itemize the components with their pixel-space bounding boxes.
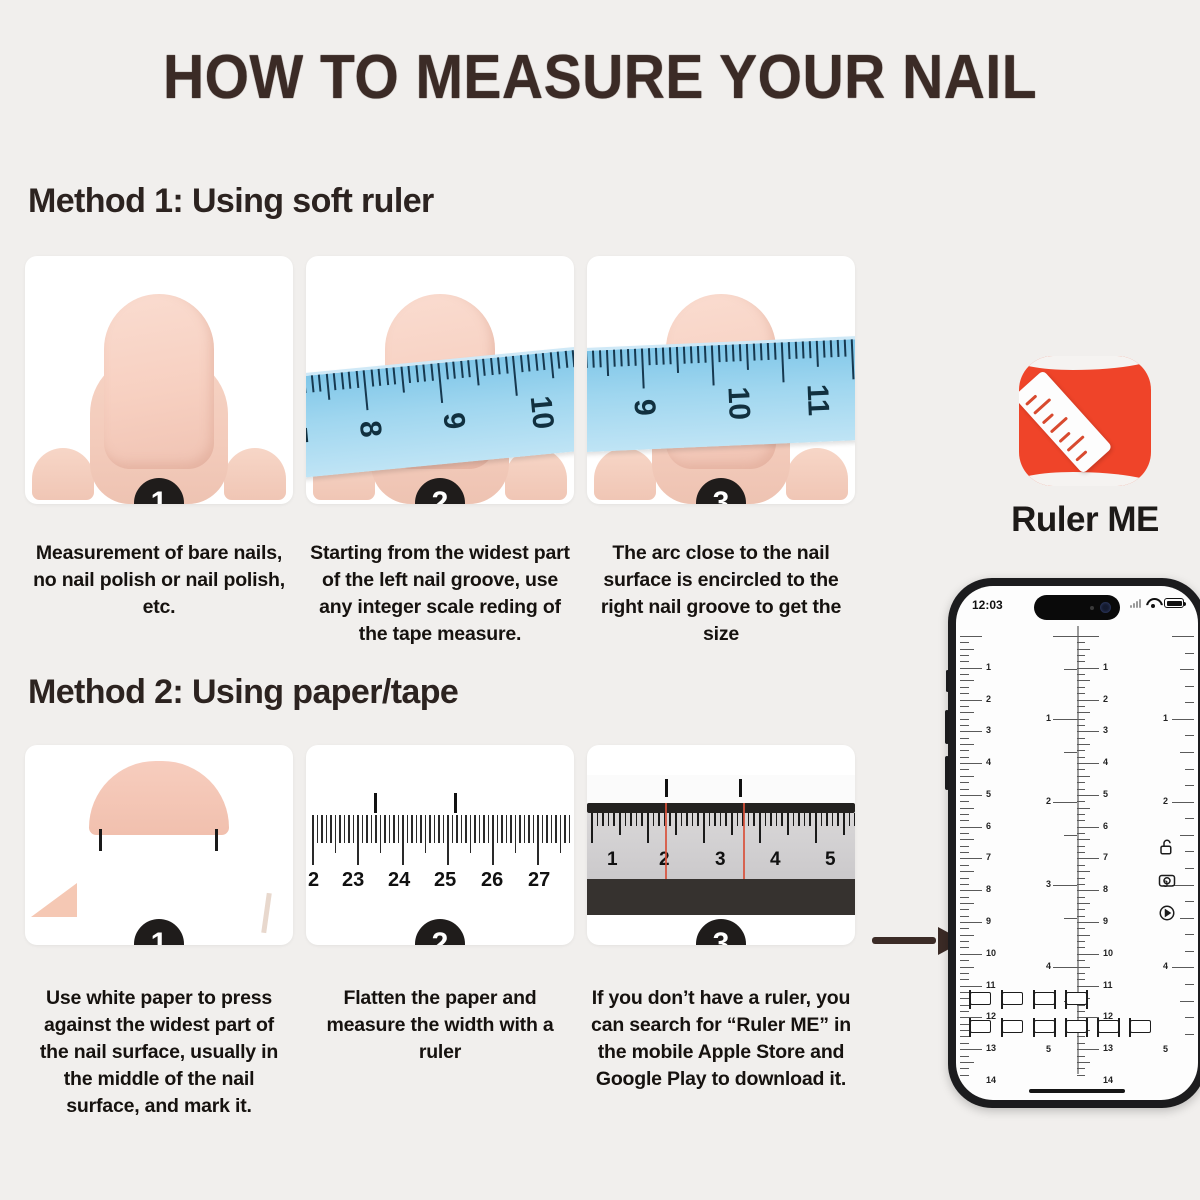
measurement-chip[interactable] (1130, 1020, 1151, 1033)
measurement-chip[interactable] (970, 1020, 991, 1033)
ruler-tick-label: 1 (1163, 713, 1168, 723)
ruler-number: 24 (388, 869, 410, 892)
ruler-number: 25 (434, 869, 456, 892)
arrow-shaft (872, 937, 936, 944)
ruler-tick-label: 13 (986, 1043, 996, 1053)
unlock-icon[interactable] (1158, 838, 1176, 856)
play-icon[interactable] (1158, 904, 1176, 922)
finger-corner (31, 883, 77, 917)
tape-number: 7 (306, 426, 314, 446)
method-2-step-1: 1 Use white paper to press against the w… (25, 745, 293, 1120)
measurement-chip[interactable] (1034, 992, 1055, 1005)
method-1-step-3: 8 9 10 11 3 The arc close to the nail su… (587, 256, 855, 648)
tape-number: 8 (587, 401, 591, 419)
ruler-tick-label: 7 (1103, 852, 1108, 862)
ruler-tick-label: 2 (1046, 796, 1051, 806)
step-caption: Use white paper to press against the wid… (25, 985, 293, 1120)
ruler-number: 3 (715, 849, 726, 871)
method-1-step-1: 1 Measurement of bare nails, no nail pol… (25, 256, 293, 648)
measure-line-start (665, 803, 667, 888)
ruler-ticks (312, 815, 568, 867)
ruler-number: 26 (481, 869, 503, 892)
ruler-number: 23 (342, 869, 364, 892)
pen-mark-right (215, 829, 218, 851)
step-badge: 2 (415, 919, 465, 945)
ruler-tick-label: 8 (986, 884, 991, 894)
wifi-icon (1146, 598, 1159, 608)
paper-strip (587, 775, 855, 803)
mute-switch[interactable] (946, 670, 949, 692)
ruler-number: 5 (825, 849, 836, 871)
step-caption: Starting from the widest part of the lef… (306, 540, 574, 648)
app-promo: Ruler ME (990, 356, 1180, 540)
ruler-glyph (1019, 370, 1113, 474)
ruler-tick-label: 7 (986, 852, 991, 862)
step-caption: Measurement of bare nails, no nail polis… (25, 540, 293, 621)
tape-number: 11 (800, 383, 835, 416)
step-badge: 1 (134, 919, 184, 945)
measurement-chips-row-1 (970, 992, 1184, 1005)
infographic-page: HOW TO MEASURE YOUR NAIL Method 1: Using… (0, 0, 1200, 1200)
ruler-tick-label: 5 (1103, 789, 1108, 799)
paper-press-photo: 1 (25, 745, 293, 945)
ruler-face: 1 2 3 4 5 (587, 813, 855, 879)
ruler-tick-label: 4 (1046, 961, 1051, 971)
ruler-tick-label: 2 (1103, 694, 1108, 704)
ruler-tick-label: 11 (986, 980, 996, 990)
ruler-tick-label: 6 (986, 821, 991, 831)
pen-mark-right (454, 793, 457, 813)
tape-number: 9 (436, 411, 471, 431)
method-1-step-2: 7 8 9 10 2 Starting from the widest part… (306, 256, 574, 648)
nail-impression (89, 761, 229, 835)
ruler-number: 4 (770, 849, 781, 871)
measurement-chips-row-2 (970, 1020, 1184, 1033)
measure-line-end (743, 803, 745, 888)
home-indicator[interactable] (1029, 1089, 1125, 1093)
finger-illustration (84, 294, 234, 504)
ruler-tick-label: 5 (1046, 1044, 1051, 1054)
pen-mark-right (739, 779, 742, 797)
ruler-tick-label: 4 (986, 757, 991, 767)
grey-ruler-photo: 1 2 3 4 5 3 (587, 745, 855, 945)
step-caption: If you don’t have a ruler, you can searc… (587, 985, 855, 1093)
desk-surface (587, 879, 855, 915)
ruler-tick-label: 10 (1103, 948, 1113, 958)
measurement-chip[interactable] (1034, 1020, 1055, 1033)
ruler-tick-label: 3 (1103, 725, 1108, 735)
ruler-tick-label: 10 (986, 948, 996, 958)
ruler-tick-label: 5 (1163, 1044, 1168, 1054)
phone-mockup: 12:03 1234567891011121314 12345678910111… (948, 578, 1200, 1108)
status-bar-icons (1130, 598, 1184, 608)
measurement-chip[interactable] (1066, 992, 1087, 1005)
grey-ruler: 1 2 3 4 5 (587, 775, 855, 915)
ruler-tick-label: 14 (986, 1075, 996, 1085)
knuckle-left (32, 448, 94, 500)
ruler-tick-label: 9 (986, 916, 991, 926)
tape-ticks (587, 339, 855, 386)
method-2-cards: 1 Use white paper to press against the w… (25, 745, 855, 1120)
measurement-chip[interactable] (970, 992, 991, 1005)
paper-edge (261, 893, 272, 933)
step-caption: Flatten the paper and measure the width … (306, 985, 574, 1066)
knuckle-right (786, 448, 848, 500)
front-camera-icon (1100, 602, 1111, 613)
method-1-heading: Method 1: Using soft ruler (28, 182, 434, 221)
volume-down-button[interactable] (945, 756, 949, 790)
ruler-top-edge (587, 803, 855, 813)
tape-number: 10 (720, 386, 755, 421)
ruler-number: 2 (308, 869, 319, 892)
ruler-tick-label: 13 (1103, 1043, 1113, 1053)
ruler-tick-label: 14 (1103, 1075, 1113, 1085)
tape-measure-right-photo: 8 9 10 11 3 (587, 256, 855, 504)
page-title: HOW TO MEASURE YOUR NAIL (48, 42, 1152, 113)
ruler-scale-center: 123456789101112131412345 (1017, 626, 1137, 1074)
step-badge: 3 (696, 919, 746, 945)
method-2-step-2: 2 23 24 25 26 27 2 Flatten the paper and… (306, 745, 574, 1120)
ruler-tick-label: 5 (986, 789, 991, 799)
nail-plate (104, 294, 214, 469)
pen-mark-left (374, 793, 377, 813)
method-1-cards: 1 Measurement of bare nails, no nail pol… (25, 256, 855, 648)
ruler-number: 1 (607, 849, 618, 871)
ruler-tick-label: 1 (986, 662, 991, 672)
pen-mark-left (665, 779, 668, 797)
ruler-tick-label: 2 (1163, 796, 1168, 806)
ruler-tick-label: 2 (986, 694, 991, 704)
battery-icon (1164, 598, 1184, 608)
status-bar-time: 12:03 (972, 598, 1003, 612)
paper-ruler: 2 23 24 25 26 27 (306, 797, 574, 907)
measurement-chip[interactable] (1098, 1020, 1119, 1033)
knuckle-right (224, 448, 286, 500)
ruler-number: 27 (528, 869, 550, 892)
measurement-chip[interactable] (1002, 992, 1023, 1005)
icon-wave-top (1019, 356, 1151, 370)
phone-screen: 12:03 1234567891011121314 12345678910111… (956, 586, 1198, 1100)
ruler-tick-label: 3 (1046, 879, 1051, 889)
icon-wave-bottom (1019, 472, 1151, 486)
pen-mark-left (99, 829, 102, 851)
tape-measure: 8 9 10 11 (587, 336, 855, 453)
method-2-heading: Method 2: Using paper/tape (28, 673, 458, 712)
dynamic-island (1034, 595, 1120, 620)
sensor-dot (1090, 606, 1094, 610)
ruler-tick-label: 8 (1103, 884, 1108, 894)
ruler-tick-label: 4 (1103, 757, 1108, 767)
ruler-tick-label: 4 (1163, 961, 1168, 971)
ruler-tick-label: 6 (1103, 821, 1108, 831)
tape-number: 9 (627, 398, 662, 416)
signal-icon (1130, 599, 1141, 608)
tape-number: 10 (523, 394, 560, 430)
bare-nail-photo: 1 (25, 256, 293, 504)
ruler-app-icon[interactable] (1019, 356, 1151, 486)
ruler-tick-label: 3 (986, 725, 991, 735)
knuckle-left (594, 448, 656, 500)
tape-number: 8 (352, 419, 387, 439)
measurement-chip[interactable] (1002, 1020, 1023, 1033)
ruler-tick-label: 11 (1103, 980, 1113, 990)
camera-icon[interactable] (1158, 871, 1176, 889)
app-name: Ruler ME (990, 500, 1180, 540)
method-2-step-3: 1 2 3 4 5 3 If you don’t have a ruler, y… (587, 745, 855, 1120)
tape-measure-left-photo: 7 8 9 10 2 (306, 256, 574, 504)
ruler-tick-label: 1 (1103, 662, 1108, 672)
ruler-toolbar (1158, 838, 1176, 922)
ruler-tick-label: 1 (1046, 713, 1051, 723)
step-caption: The arc close to the nail surface is enc… (587, 540, 855, 648)
paper-ruler-photo: 2 23 24 25 26 27 2 (306, 745, 574, 945)
ruler-tick-label: 9 (1103, 916, 1108, 926)
volume-up-button[interactable] (945, 710, 949, 744)
measurement-chip[interactable] (1066, 1020, 1087, 1033)
